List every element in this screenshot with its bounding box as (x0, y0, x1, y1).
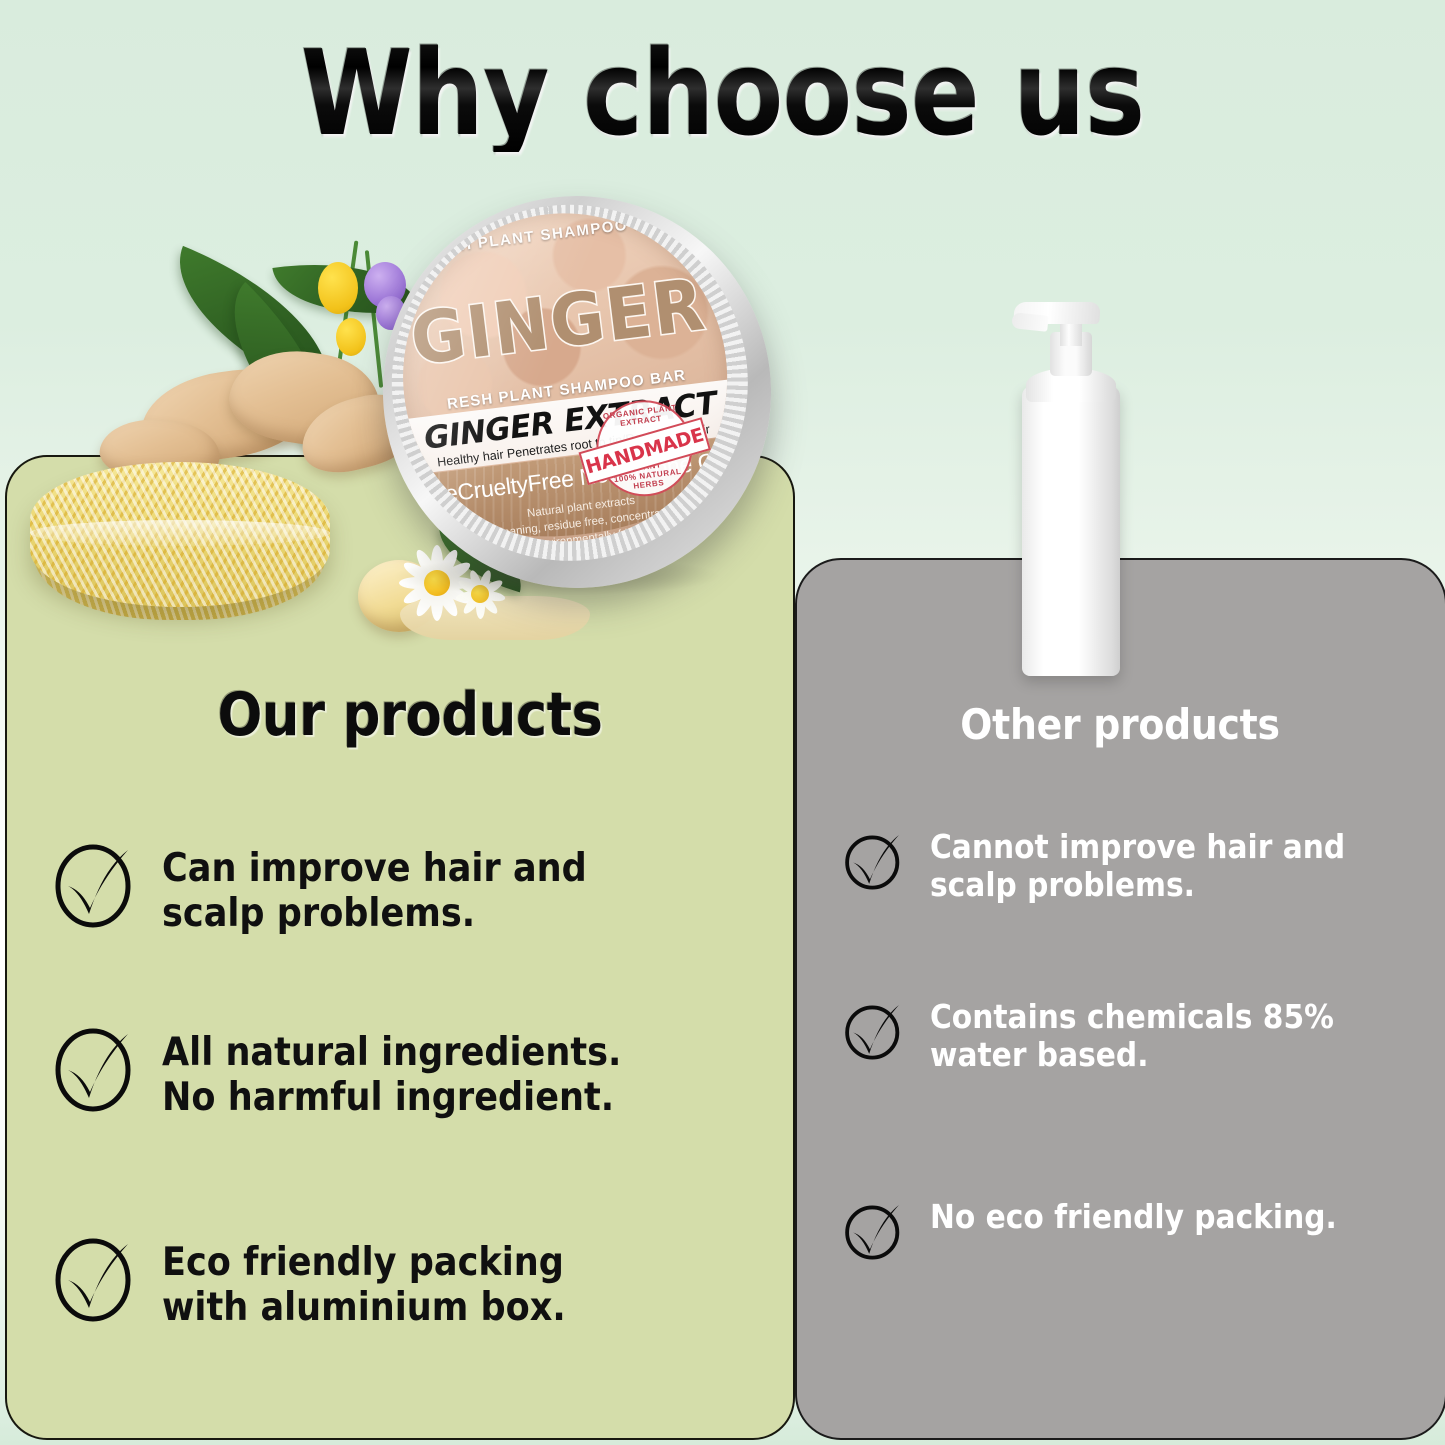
page-title: Why choose us (101, 34, 1344, 152)
leaf-icon (151, 246, 358, 396)
tin-brand: GINGER (393, 261, 725, 383)
list-item: Cannot improve hair and scalp problems. (838, 826, 1408, 905)
list-item-label: Cannot improve hair and scalp problems. (930, 826, 1345, 905)
yellow-flower-icon (318, 262, 358, 314)
check-circle-icon (838, 826, 908, 896)
tin-top-arc-text: RESH PLANT SHAMPOO BAR (386, 207, 710, 263)
list-item-label: Contains chemicals 85% water based. (930, 996, 1334, 1075)
list-item-label: No eco friendly packing. (930, 1196, 1337, 1236)
list-item-label: Can improve hair and scalp problems. (162, 838, 587, 936)
list-item: All natural ingredients. No harmful ingr… (48, 1022, 708, 1120)
check-circle-icon (48, 838, 140, 930)
plant-stem-icon (365, 250, 383, 388)
check-circle-icon (48, 1022, 140, 1114)
check-circle-icon (48, 1232, 140, 1324)
other-products-heading: Other products (886, 700, 1354, 749)
purple-flower-icon (376, 296, 406, 330)
list-item: No eco friendly packing. (838, 1196, 1408, 1266)
ginger-root (135, 361, 315, 470)
list-item: Contains chemicals 85% water based. (838, 996, 1408, 1075)
list-item-label: Eco friendly packing with aluminium box. (162, 1232, 566, 1330)
ginger-root (224, 341, 387, 455)
tin-extract-title: GINGER EXTRACT (408, 383, 734, 458)
leaf-icon (194, 282, 366, 452)
leaf-icon (272, 249, 419, 330)
bottle-shoulder (1026, 368, 1116, 402)
bottle-pump-spout (1011, 312, 1048, 332)
check-circle-icon (838, 1196, 908, 1266)
purple-flower-icon (364, 262, 406, 308)
infographic-canvas: Why choose us (0, 0, 1445, 1445)
list-item: Eco friendly packing with aluminium box. (48, 1232, 708, 1330)
plant-stem-icon (334, 240, 359, 389)
our-products-heading: Our products (181, 680, 639, 750)
check-circle-icon (838, 996, 908, 1066)
list-item: Can improve hair and scalp problems. (48, 838, 708, 936)
bottle-neck (1050, 332, 1092, 376)
yellow-flower-icon (336, 318, 366, 356)
list-item-label: All natural ingredients. No harmful ingr… (162, 1022, 621, 1120)
bottle-pump-head (1013, 302, 1101, 324)
tin-subtitle: RESH PLANT SHAMPOO BAR (405, 362, 729, 418)
bottle-pump-stem (1060, 310, 1082, 346)
